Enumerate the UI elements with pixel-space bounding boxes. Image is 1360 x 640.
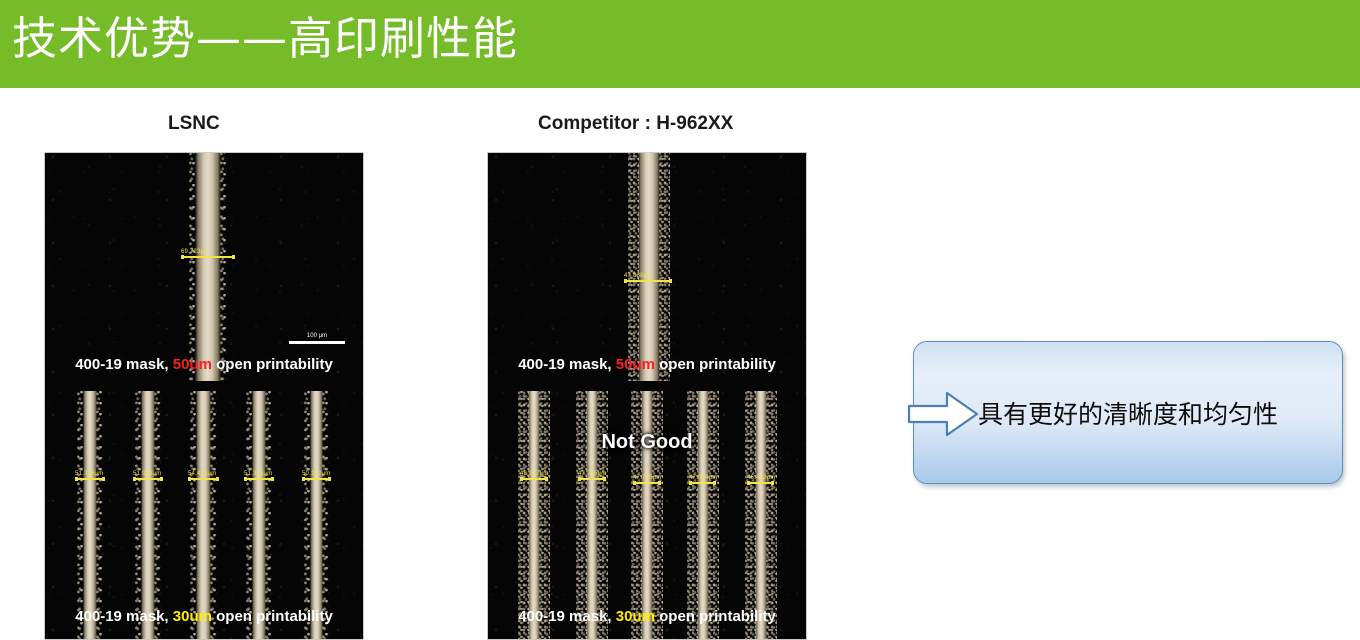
callout-box: 具有更好的清晰度和均匀性 xyxy=(913,341,1343,484)
measurement-label-bottom: 47.705μm xyxy=(633,475,661,484)
printed-line-bottom xyxy=(196,391,211,640)
measurement-label-top: 69.723μm xyxy=(181,249,235,258)
printed-line-top xyxy=(195,152,221,381)
measurement-label-top: 47.888μm xyxy=(624,273,672,282)
printed-line-bottom xyxy=(755,391,767,640)
measurement-label-bottom: 47.094μm xyxy=(689,475,717,484)
measurement-label-bottom: 51.986μm xyxy=(133,471,163,480)
scale-bar: 100 μm xyxy=(289,333,345,344)
micrograph-competitor: 47.888μm 400-19 mask, 50um open printabi… xyxy=(487,152,807,640)
printed-line-bottom xyxy=(310,391,323,640)
printed-line-top xyxy=(638,152,660,381)
measurement-label-bottom: 47.705μm xyxy=(578,471,606,480)
right-arrow-icon xyxy=(907,390,979,438)
caption-50um-right: 400-19 mask, 50um open printability xyxy=(488,356,806,373)
slide-header-band: 技术优势——高印刷性能 xyxy=(0,0,1360,88)
printed-line-bottom xyxy=(641,391,653,640)
printed-line-bottom xyxy=(528,391,540,640)
caption-30um-right: 400-19 mask, 30um open printability xyxy=(488,608,806,625)
page-title: 技术优势——高印刷性能 xyxy=(12,8,518,70)
printed-line-bottom xyxy=(252,391,266,640)
measurement-label-bottom: 48.317μm xyxy=(520,471,548,480)
measurement-label-bottom: 50.152μm xyxy=(302,471,331,480)
measurement-label-bottom: 51.375μm xyxy=(244,471,274,480)
printed-line-bottom xyxy=(586,391,598,640)
micrograph-lsnc: 69.723μm 100 μm 400-19 mask, 50um open p… xyxy=(44,152,364,640)
measurement-label-bottom: 54.433μm xyxy=(188,471,219,480)
caption-30um-left: 400-19 mask, 30um open printability xyxy=(45,608,363,625)
callout-text: 具有更好的清晰度和均匀性 xyxy=(978,342,1328,483)
column-caption-lsnc: LSNC xyxy=(168,113,220,135)
printed-line-bottom xyxy=(697,391,709,640)
measurement-label-bottom: 46.482μm xyxy=(747,475,775,484)
printed-line-bottom xyxy=(141,391,155,640)
caption-50um-left: 400-19 mask, 50um open printability xyxy=(45,356,363,373)
verdict-not-good: Not Good xyxy=(488,431,806,454)
measurement-label-bottom: 51.375μm xyxy=(75,471,105,480)
printed-line-bottom xyxy=(83,391,97,640)
column-caption-competitor: Competitor : H-962XX xyxy=(538,113,733,135)
